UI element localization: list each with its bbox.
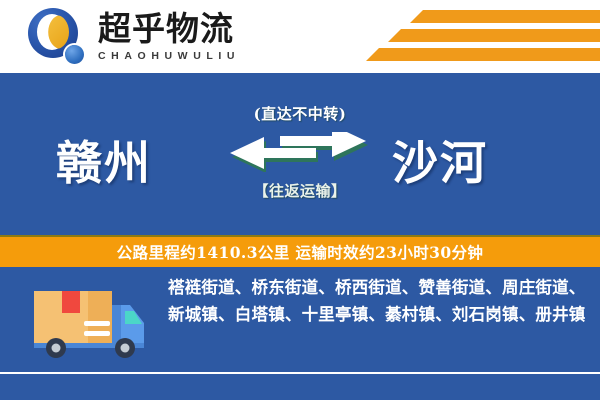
direct-note: (直达不中转) <box>214 103 386 124</box>
route-middle: (直达不中转) 【往返运输】 <box>214 103 386 233</box>
logistics-route-banner: 超乎物流 CHAOHUWULIU 赣州 (直达不中转) <box>0 0 600 400</box>
circle-crescent-logo-icon <box>26 6 88 68</box>
brand-name-en: CHAOHUWULIU <box>98 50 240 62</box>
roundtrip-note: 【往返运输】 <box>214 180 386 201</box>
delivery-truck-icon <box>26 281 156 359</box>
banner-body: 赣州 (直达不中转) 【往返运输】 <box>0 73 600 400</box>
stripe-3 <box>366 48 600 61</box>
brand-name-cn: 超乎物流 <box>98 12 240 47</box>
logo-accent-dot <box>65 45 84 64</box>
coverage-areas-text: 褡裢街道、桥东街道、桥西街道、赞善街道、周庄街道、新城镇、白塔镇、十里亭镇、綦村… <box>168 275 586 328</box>
bidirectional-arrows-icon <box>230 132 370 172</box>
brand-logo: 超乎物流 CHAOHUWULIU <box>26 6 240 68</box>
brand-name-block: 超乎物流 CHAOHUWULIU <box>98 12 240 62</box>
destination-city: 沙河 <box>392 127 488 193</box>
route-info-bar: 公路里程约1410.3公里 运输时效约23小时30分钟 <box>0 235 600 267</box>
origin-city: 赣州 <box>56 127 152 193</box>
banner-header: 超乎物流 CHAOHUWULIU <box>0 0 600 73</box>
bottom-divider <box>0 372 600 374</box>
route-info-text: 公路里程约1410.3公里 运输时效约23小时30分钟 <box>117 241 484 263</box>
coverage-section: 褡裢街道、桥东街道、桥西街道、赞善街道、周庄街道、新城镇、白塔镇、十里亭镇、綦村… <box>0 269 600 369</box>
orange-speed-stripes-icon <box>350 8 600 64</box>
stripe-1 <box>410 10 600 23</box>
stripe-2 <box>388 29 600 42</box>
route-row: 赣州 (直达不中转) 【往返运输】 <box>0 103 600 233</box>
